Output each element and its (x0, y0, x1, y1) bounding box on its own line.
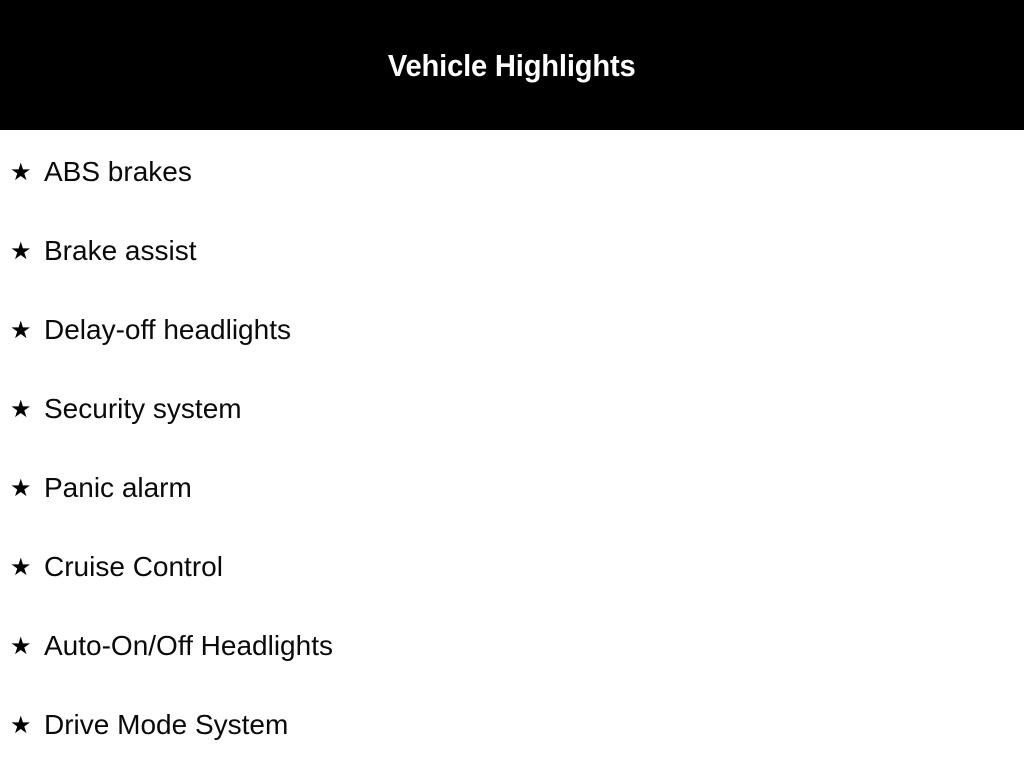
highlight-label: Brake assist (44, 236, 197, 265)
list-item: ★ ABS brakes (0, 152, 1024, 192)
list-item: ★ Panic alarm (0, 468, 1024, 508)
star-icon: ★ (10, 555, 32, 579)
list-item: ★ Auto-On/Off Headlights (0, 626, 1024, 666)
vehicle-highlights-list: ★ ABS brakes ★ Brake assist ★ Delay-off … (0, 130, 1024, 768)
highlight-label: Cruise Control (44, 552, 223, 581)
highlight-label: Drive Mode System (44, 710, 288, 739)
star-icon: ★ (10, 318, 32, 342)
list-item: ★ Delay-off headlights (0, 310, 1024, 350)
star-icon: ★ (10, 397, 32, 421)
star-icon: ★ (10, 634, 32, 658)
star-icon: ★ (10, 160, 32, 184)
vehicle-highlights-page: Vehicle Highlights ★ ABS brakes ★ Brake … (0, 0, 1024, 768)
highlight-label: Delay-off headlights (44, 315, 291, 344)
highlight-label: Panic alarm (44, 473, 192, 502)
highlight-label: ABS brakes (44, 157, 192, 186)
page-title: Vehicle Highlights (388, 50, 636, 81)
star-icon: ★ (10, 239, 32, 263)
header-banner: Vehicle Highlights (0, 0, 1024, 130)
highlight-label: Security system (44, 394, 242, 423)
star-icon: ★ (10, 713, 32, 737)
list-item: ★ Brake assist (0, 231, 1024, 271)
list-item: ★ Drive Mode System (0, 705, 1024, 745)
list-item: ★ Security system (0, 389, 1024, 429)
star-icon: ★ (10, 476, 32, 500)
list-item: ★ Cruise Control (0, 547, 1024, 587)
highlight-label: Auto-On/Off Headlights (44, 631, 333, 660)
